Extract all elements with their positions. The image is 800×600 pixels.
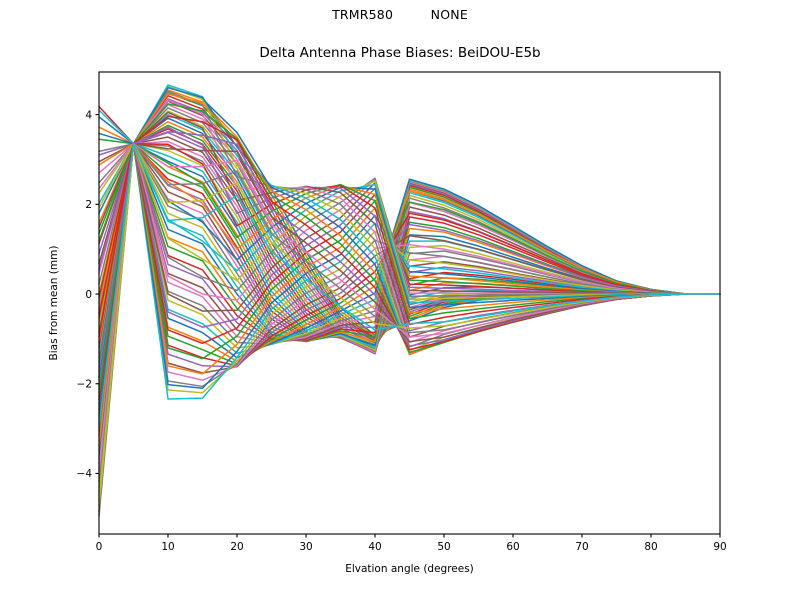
x-tick-label: 90 — [713, 541, 726, 553]
chart-plot-area: 0102030405060708090−4−2024Elvation angle… — [0, 0, 800, 600]
x-tick-label: 40 — [368, 541, 381, 553]
series-line — [99, 144, 720, 358]
x-tick-label: 10 — [161, 541, 174, 553]
x-tick-label: 50 — [437, 541, 450, 553]
y-tick-label: 2 — [85, 199, 92, 211]
x-tick-label: 70 — [575, 541, 588, 553]
x-tick-label: 30 — [299, 541, 312, 553]
figure-canvas: TRMR580 NONE Delta Antenna Phase Biases:… — [0, 0, 800, 600]
y-tick-label: 4 — [85, 109, 92, 121]
y-tick-label: −4 — [77, 468, 93, 480]
y-tick-label: −2 — [77, 379, 92, 391]
x-tick-label: 60 — [506, 541, 519, 553]
x-axis-label: Elvation angle (degrees) — [345, 563, 474, 575]
series-lines-group — [99, 85, 720, 516]
y-tick-label: 0 — [85, 289, 92, 301]
y-axis-label: Bias from mean (mm) — [48, 246, 60, 361]
x-tick-label: 0 — [96, 541, 103, 553]
x-tick-label: 20 — [230, 541, 243, 553]
x-tick-label: 80 — [644, 541, 657, 553]
